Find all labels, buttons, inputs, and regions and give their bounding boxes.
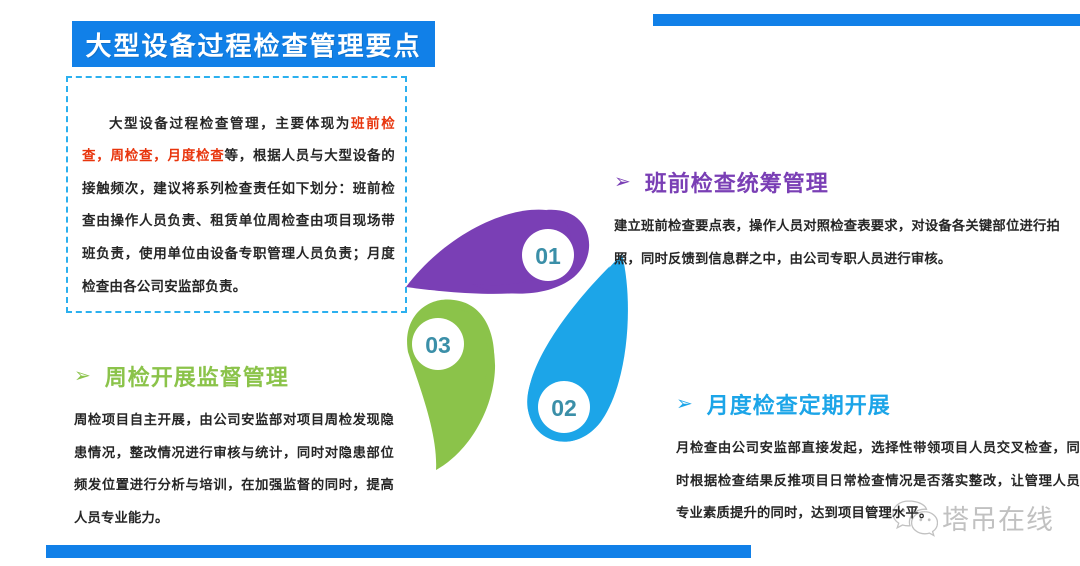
section-ban-qian-jian-cha: ➢ 班前检查统筹管理 建立班前检查要点表，操作人员对照检查表要求，对设备各关键部… (614, 166, 1080, 288)
section-02-body: 月检查由公司安监部直接发起，选择性带领项目人员交叉检查，同时根据检查结果反推项目… (676, 432, 1080, 530)
intro-paragraph: 大型设备过程检查管理，主要体现为班前检查，周检查，月度检查等，根据人员与大型设备… (82, 108, 395, 304)
arrow-bullet-icon: ➢ (74, 366, 91, 386)
page-title-banner: 大型设备过程检查管理要点 (72, 21, 435, 67)
intro-segment-plain-2: 等，根据人员与大型设备的接触频次，建议将系列检查责任如下划分：班前检查由操作人员… (82, 148, 395, 294)
arrow-bullet-icon: ➢ (676, 394, 693, 414)
section-01-heading: ➢ 班前检查统筹管理 (614, 166, 1080, 198)
section-03-title: 周检开展监督管理 (105, 360, 289, 392)
intro-segment-plain-1: 大型设备过程检查管理，主要体现为 (109, 116, 351, 131)
arrow-bullet-icon: ➢ (614, 172, 631, 192)
section-yue-du-jian-cha: ➢ 月度检查定期开展 月检查由公司安监部直接发起，选择性带领项目人员交叉检查，同… (676, 388, 1080, 543)
petal-purple: 01 (406, 210, 589, 294)
petal-label-02: 02 (551, 395, 577, 421)
section-01-body: 建立班前检查要点表，操作人员对照检查表要求，对设备各关键部位进行拍照，同时反馈到… (614, 210, 1060, 275)
section-01-title: 班前检查统筹管理 (645, 166, 829, 198)
section-02-heading: ➢ 月度检查定期开展 (676, 388, 1080, 420)
section-03-heading: ➢ 周检开展监督管理 (74, 360, 414, 392)
petal-green: 03 (407, 300, 495, 470)
slide-canvas: 大型设备过程检查管理要点 大型设备过程检查管理，主要体现为班前检查，周检查，月度… (0, 0, 1080, 566)
page-title: 大型设备过程检查管理要点 (85, 26, 421, 63)
intro-dashed-box: 大型设备过程检查管理，主要体现为班前检查，周检查，月度检查等，根据人员与大型设备… (66, 76, 407, 313)
section-03-body: 周检项目自主开展，由公司安监部对项目周检发现隐患情况，整改情况进行审核与统计，同… (74, 404, 394, 534)
decor-bar-top-right (653, 14, 1080, 26)
petal-label-03: 03 (425, 332, 451, 358)
section-02-title: 月度检查定期开展 (707, 388, 891, 420)
petal-label-01: 01 (535, 243, 561, 269)
section-zhou-jian-kai-zhan: ➢ 周检开展监督管理 周检项目自主开展，由公司安监部对项目周检发现隐患情况，整改… (74, 360, 414, 548)
